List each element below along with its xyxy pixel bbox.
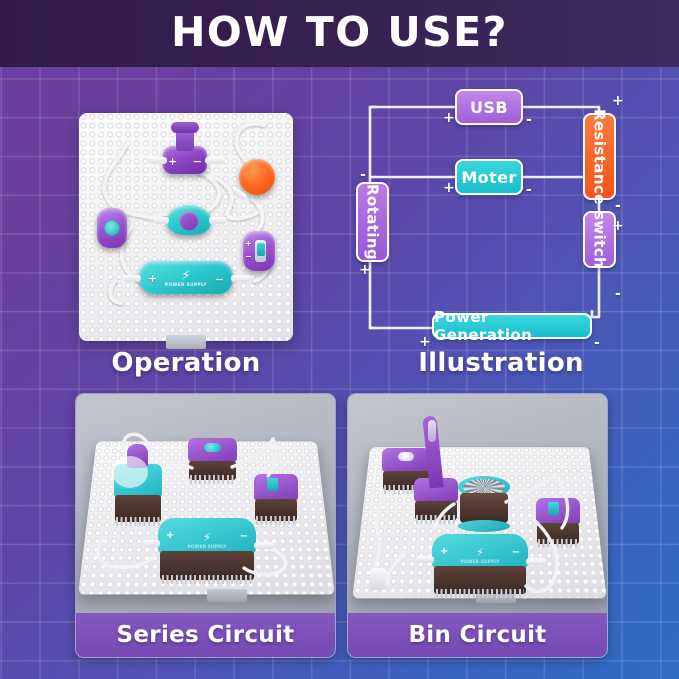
bin-switch-toggle xyxy=(548,502,559,515)
moter-plus-sign: + xyxy=(443,181,455,195)
power-bolt-icon: ⚡ xyxy=(181,268,190,283)
operation-button-module xyxy=(239,159,275,195)
plug xyxy=(123,275,141,282)
diagram-box-moter[interactable]: Moter xyxy=(455,159,523,195)
illustration-caption: Illustration xyxy=(386,348,616,378)
rotating-minus-sign: - xyxy=(360,168,366,182)
series-circuit-caption: Series Circuit xyxy=(76,613,335,657)
plug xyxy=(205,157,225,164)
series-circuit-photo: + − ⚡ POWER SUPPLY xyxy=(76,394,335,617)
power-generation-plus-sign: + xyxy=(419,335,431,349)
bin-lamp-bulb xyxy=(398,452,414,461)
plug xyxy=(416,556,434,563)
bin-power-supply-brick: + − ⚡ POWER SUPPLY xyxy=(432,534,528,594)
series-power-supply-brick: + − ⚡ POWER SUPPLY xyxy=(158,518,256,580)
switch-minus-sign: - xyxy=(615,287,621,301)
poster-root: HOW TO USE? + − xyxy=(0,0,679,679)
plug xyxy=(231,275,251,282)
operation-fan-module xyxy=(167,205,211,235)
series-power-supply-label: POWER SUPPLY xyxy=(158,545,256,550)
moter-minus-sign: - xyxy=(526,183,532,197)
operation-photo: + − + − xyxy=(79,113,293,341)
switch-plus-sign: + xyxy=(612,219,624,233)
plug xyxy=(209,217,227,224)
page-title: HOW TO USE? xyxy=(0,0,679,67)
operation-caption: Operation xyxy=(79,348,293,378)
operation-usb-module xyxy=(97,208,127,248)
bin-lamp-head xyxy=(428,420,436,442)
crank-knob xyxy=(171,122,199,133)
baseplate-tab xyxy=(166,335,206,349)
diagram-box-usb[interactable]: USB xyxy=(455,89,523,125)
series-switch-toggle xyxy=(267,478,278,491)
usb-minus-sign: - xyxy=(526,113,532,127)
power-supply-label: POWER SUPPLY xyxy=(139,283,233,288)
operation-switch-module: + − xyxy=(243,231,275,271)
usb-plus-sign: + xyxy=(443,111,455,125)
resistance-minus-sign: - xyxy=(615,199,621,213)
bin-usb-connector xyxy=(370,568,386,590)
series-fan-blades xyxy=(112,456,148,488)
bin-power-supply-label: POWER SUPPLY xyxy=(432,560,528,565)
diagram-box-resistance[interactable]: Resistance xyxy=(583,113,616,200)
illustration-diagram: USB + - Moter + - Resistance + - switch … xyxy=(343,80,679,352)
bin-circuit-card[interactable]: + − ⚡ POWER SUPPLY Bin Circuit xyxy=(347,393,608,658)
rotating-plus-sign: + xyxy=(359,263,371,277)
plug xyxy=(526,558,546,565)
plug xyxy=(153,217,169,224)
plug xyxy=(254,542,274,549)
resistance-plus-sign: + xyxy=(612,94,624,108)
operation-power-supply-module: + − ⚡ POWER SUPPLY xyxy=(139,261,233,294)
bin-circuit-caption: Bin Circuit xyxy=(348,613,607,657)
bin-circuit-photo: + − ⚡ POWER SUPPLY xyxy=(348,394,607,617)
diagram-box-rotating[interactable]: Rotating xyxy=(356,182,389,262)
plug xyxy=(149,157,167,164)
series-usb-port xyxy=(204,443,221,452)
series-circuit-card[interactable]: + − ⚡ POWER SUPPLY Series Circuit xyxy=(75,393,336,658)
diagram-box-power-generation[interactable]: Power Generation xyxy=(432,313,592,339)
plug xyxy=(142,540,160,547)
series-board-tab xyxy=(207,589,247,602)
bin-motor-module xyxy=(458,476,510,534)
